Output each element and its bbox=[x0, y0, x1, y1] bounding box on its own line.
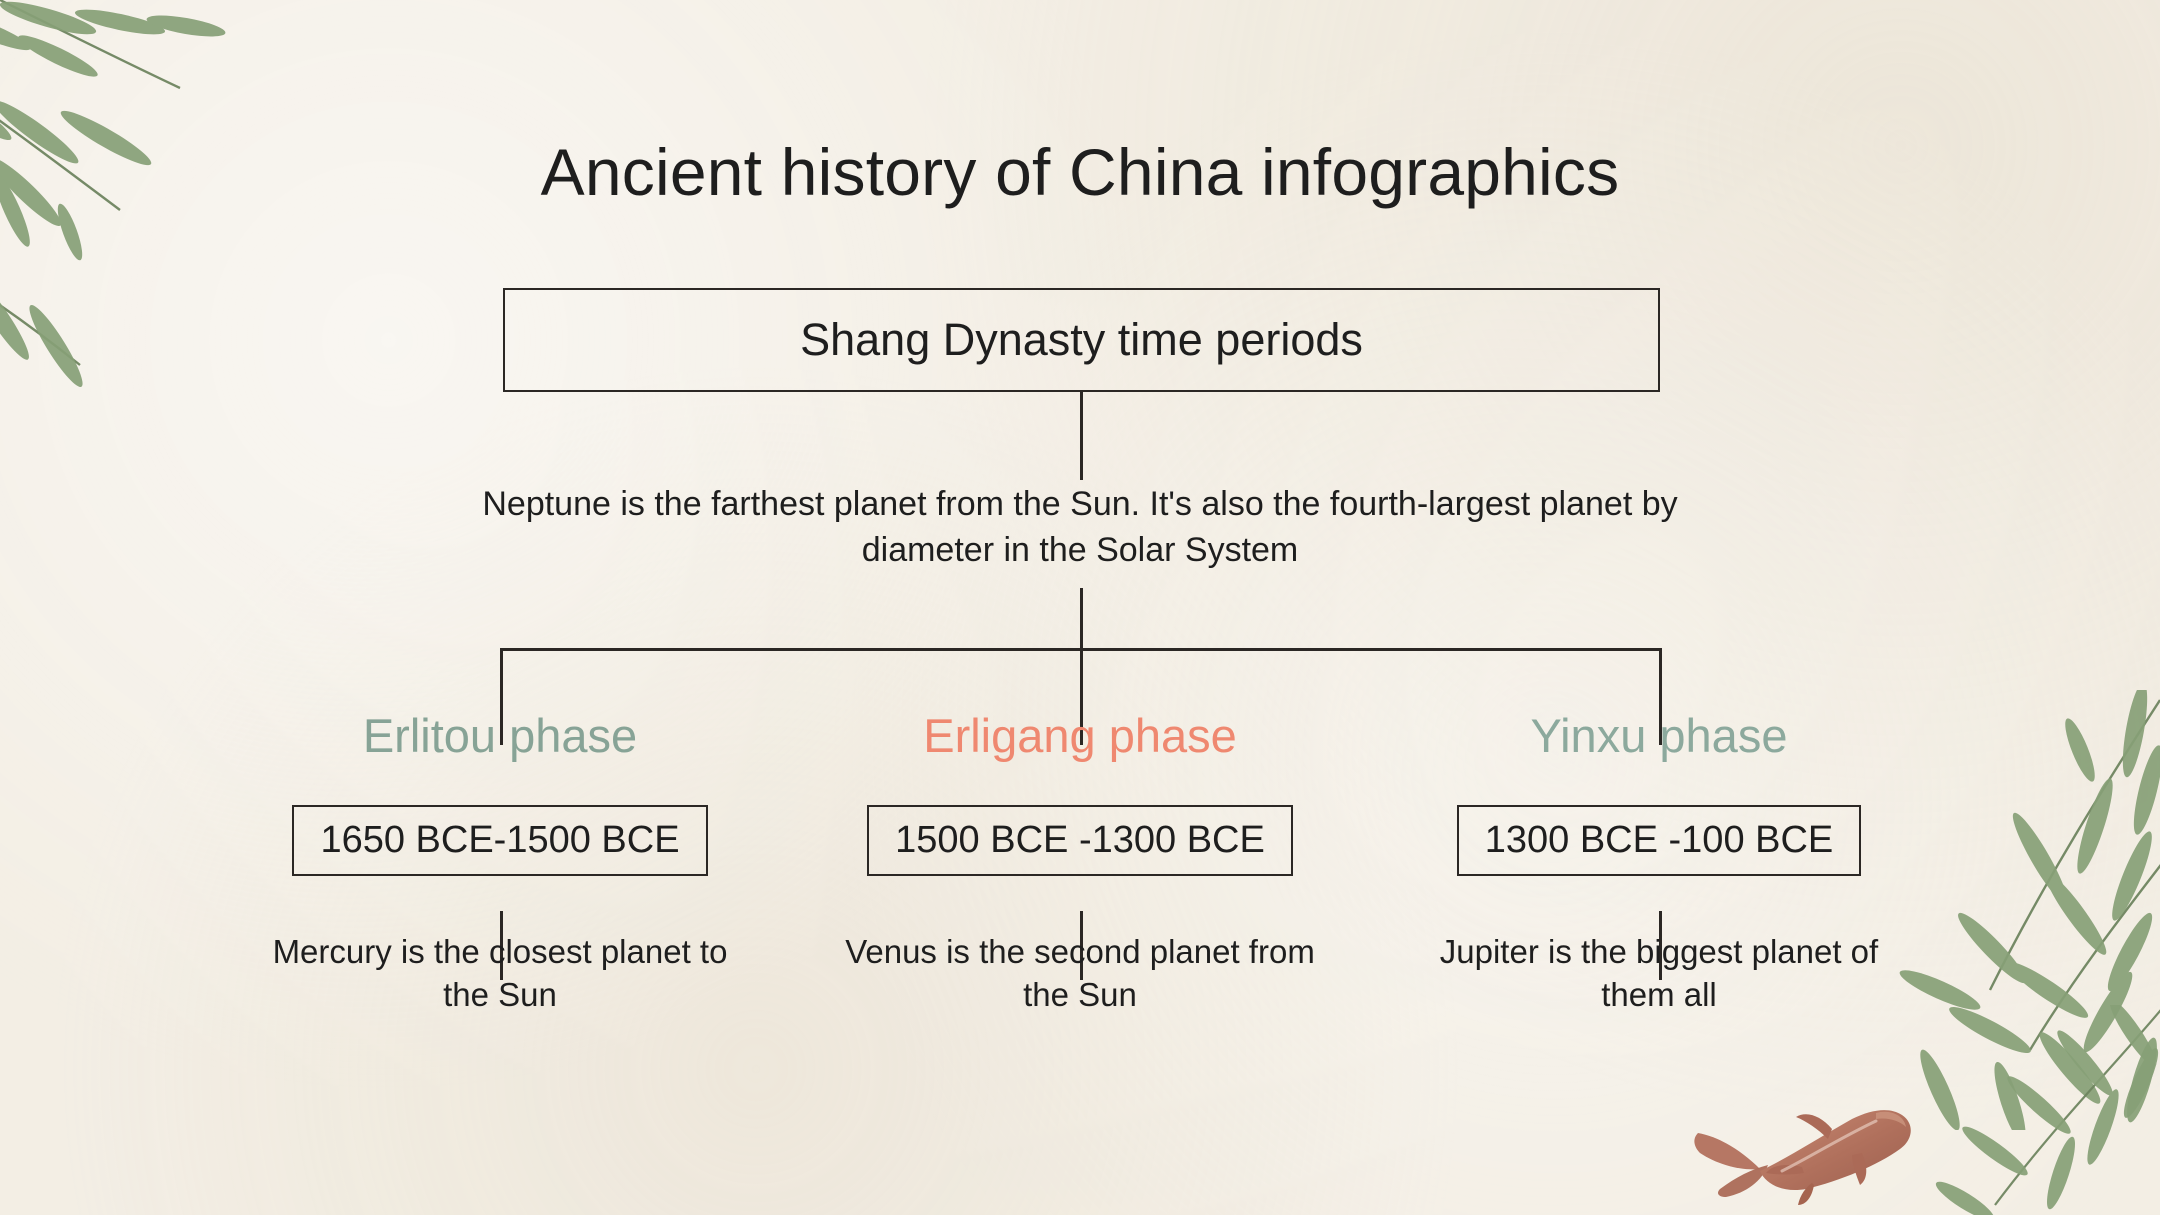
root-node-label: Shang Dynasty time periods bbox=[800, 314, 1363, 366]
phase-column-erligang: Erligang phase 1500 BCE -1300 BCE Venus … bbox=[800, 710, 1360, 1017]
connector-desc-down bbox=[1080, 588, 1083, 649]
olive-branch-bottom-right-icon bbox=[1935, 1005, 2160, 1215]
page-title: Ancient history of China infographics bbox=[0, 136, 2160, 209]
koi-fish-icon bbox=[1690, 1085, 1925, 1210]
phase-column-erlitou: Erlitou phase 1650 BCE-1500 BCE Mercury … bbox=[220, 710, 780, 1017]
phase-title-yinxu: Yinxu phase bbox=[1531, 710, 1788, 762]
phase-column-yinxu: Yinxu phase 1300 BCE -100 BCE Jupiter is… bbox=[1379, 710, 1939, 1017]
phase-date-box-yinxu[interactable]: 1300 BCE -100 BCE bbox=[1457, 805, 1862, 876]
phase-date-box-erlitou[interactable]: 1650 BCE-1500 BCE bbox=[292, 805, 707, 876]
phase-date-label-yinxu: 1300 BCE -100 BCE bbox=[1485, 819, 1834, 862]
root-node-box[interactable]: Shang Dynasty time periods bbox=[503, 288, 1660, 392]
root-description-text: Neptune is the farthest planet from the … bbox=[480, 482, 1680, 574]
phase-description-erligang: Venus is the second planet from the Sun bbox=[840, 930, 1320, 1017]
phase-date-box-erligang[interactable]: 1500 BCE -1300 BCE bbox=[867, 805, 1293, 876]
phase-date-label-erligang: 1500 BCE -1300 BCE bbox=[895, 819, 1265, 862]
phase-title-erlitou: Erlitou phase bbox=[363, 710, 637, 762]
phase-date-label-erlitou: 1650 BCE-1500 BCE bbox=[320, 819, 679, 862]
phase-description-yinxu: Jupiter is the biggest planet of them al… bbox=[1419, 930, 1899, 1017]
slide-canvas: Ancient history of China infographics Sh… bbox=[0, 0, 2160, 1215]
connector-root-down bbox=[1080, 392, 1083, 480]
phase-title-erligang: Erligang phase bbox=[923, 710, 1237, 762]
phase-description-erlitou: Mercury is the closest planet to the Sun bbox=[260, 930, 740, 1017]
